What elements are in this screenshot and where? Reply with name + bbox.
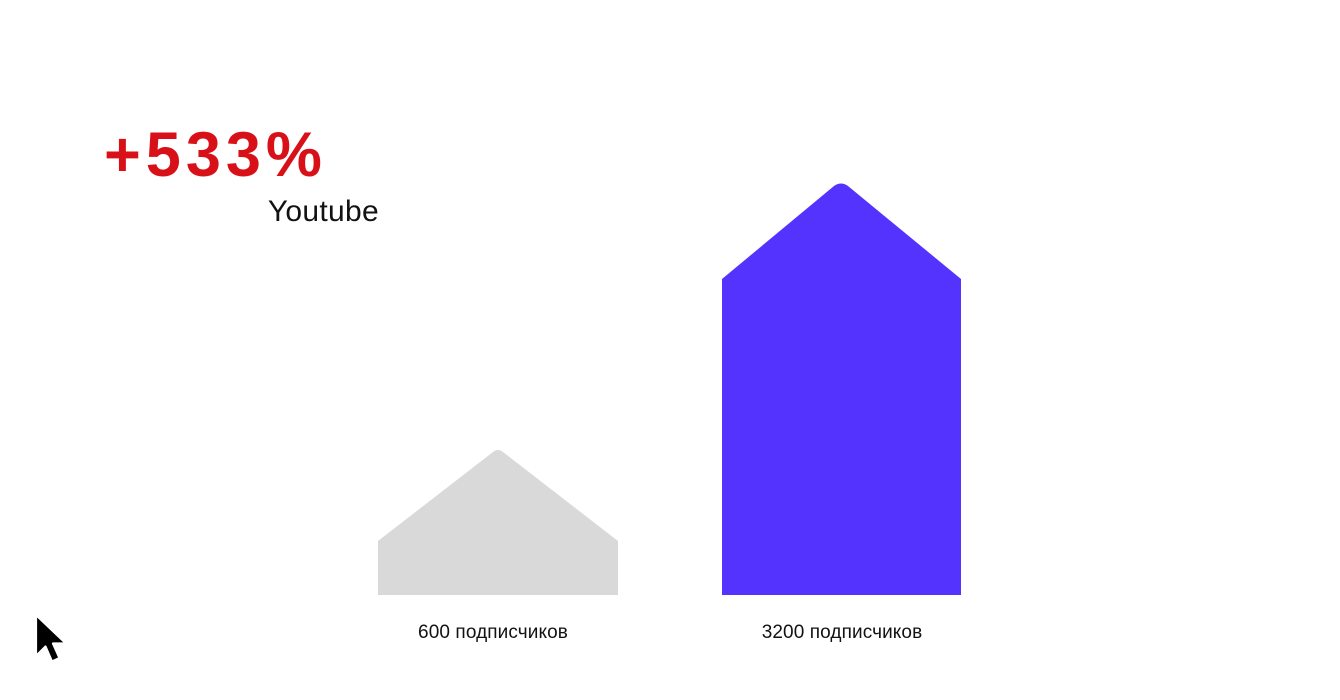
bar-label-after: 3200 подписчиков <box>762 622 923 644</box>
bar-chart: 600 подписчиков 3200 подписчиков <box>0 0 1340 700</box>
slide-canvas: +533% Youtube 600 подписчиков 3200 подпи… <box>0 0 1340 700</box>
bar-label-before: 600 подписчиков <box>418 622 568 644</box>
bar-before[interactable] <box>378 450 618 595</box>
chart-shapes-svg <box>0 0 1340 700</box>
bar-after[interactable] <box>722 184 961 596</box>
